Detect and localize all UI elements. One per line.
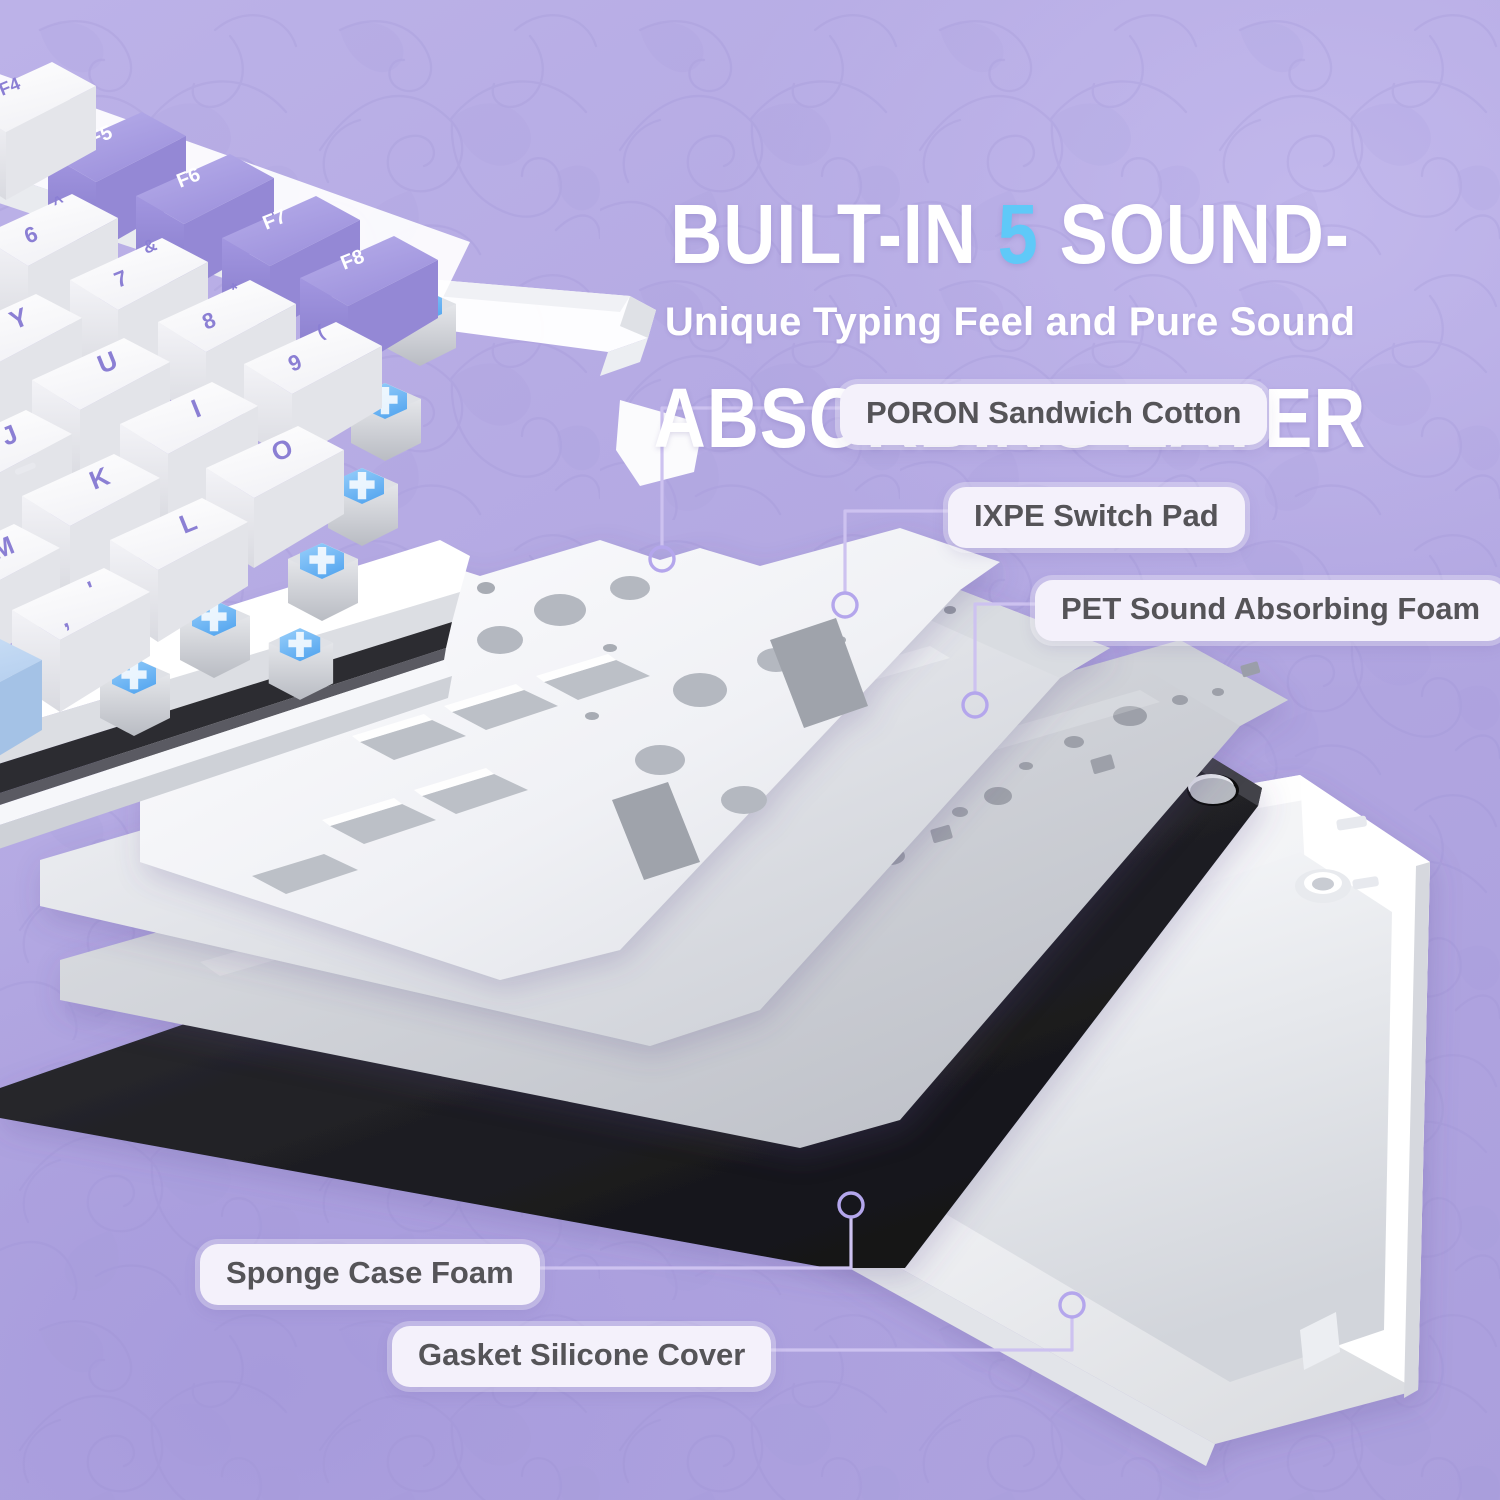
product-infographic: F5 F6 F7 F8 xyxy=(0,0,1500,1500)
headline-line1-after: SOUND- xyxy=(1039,187,1350,281)
callout-sponge-case-foam: Sponge Case Foam xyxy=(200,1244,540,1305)
callout-poron-sandwich-cotton: PORON Sandwich Cotton xyxy=(840,384,1267,445)
page-subheadline: Unique Typing Feel and Pure Sound xyxy=(560,300,1460,345)
foam-screw-hole xyxy=(1187,774,1239,806)
screw-post xyxy=(1295,869,1351,903)
headline-line1-before: BUILT-IN xyxy=(670,187,997,281)
callout-pet-sound-absorbing-foam: PET Sound Absorbing Foam xyxy=(1035,580,1500,641)
headline-highlight-number: 5 xyxy=(998,187,1039,281)
callout-ixpe-switch-pad: IXPE Switch Pad xyxy=(948,487,1245,548)
callout-gasket-silicone-cover: Gasket Silicone Cover xyxy=(392,1326,771,1387)
